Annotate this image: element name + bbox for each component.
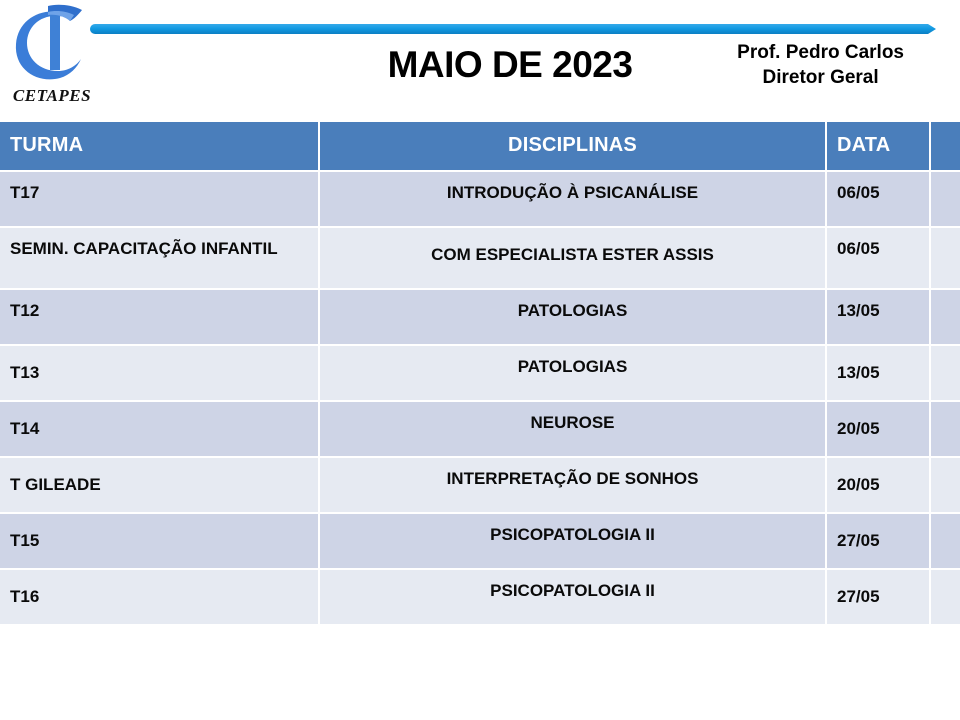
cell-disciplina-text: PSICOPATOLOGIA II [320,570,825,602]
cell-turma-text: T GILEADE [0,458,318,496]
cell-disciplina-text: PSICOPATOLOGIA II [320,514,825,546]
cell-extra [931,514,960,570]
cell-disciplina: COM ESPECIALISTA ESTER ASSIS [320,228,827,290]
cell-data-text: 27/05 [827,570,929,608]
cell-extra-text [931,172,960,182]
cell-extra-text [931,346,960,356]
cell-data-text: 13/05 [827,346,929,384]
cell-disciplina: INTERPRETAÇÃO DE SONHOS [320,458,827,514]
cell-data: 20/05 [827,458,931,514]
cell-data-text: 06/05 [827,172,929,204]
column-header-disciplinas-label: DISCIPLINAS [320,122,825,157]
cell-turma: T GILEADE [0,458,320,514]
cell-disciplina-text: PATOLOGIAS [320,290,825,322]
logo-wordmark: CETAPES [6,86,98,106]
table-header-row: TURMA DISCIPLINAS DATA [0,122,960,172]
cell-turma-text: T13 [0,346,318,384]
cell-extra-text [931,458,960,468]
cell-extra [931,228,960,290]
cell-turma: SEMIN. CAPACITAÇÃO INFANTIL [0,228,320,290]
cell-disciplina: PSICOPATOLOGIA II [320,570,827,626]
cetapes-c-logo-icon [4,2,92,88]
cell-turma-text: T17 [0,172,318,204]
cell-extra [931,570,960,626]
cell-turma: T13 [0,346,320,402]
table-row: T GILEADE INTERPRETAÇÃO DE SONHOS 20/05 [0,458,960,514]
table-row: T15 PSICOPATOLOGIA II 27/05 [0,514,960,570]
director-name: Prof. Pedro Carlos [737,40,904,65]
cell-extra [931,346,960,402]
cell-turma: T12 [0,290,320,346]
cell-extra-text [931,228,960,238]
table-row: T16 PSICOPATOLOGIA II 27/05 [0,570,960,626]
table-row: T13 PATOLOGIAS 13/05 [0,346,960,402]
cell-data-text: 06/05 [827,228,929,260]
cell-extra [931,402,960,458]
cell-extra-text [931,402,960,412]
cell-disciplina-text: INTERPRETAÇÃO DE SONHOS [320,458,825,490]
table-row: T14 NEUROSE 20/05 [0,402,960,458]
header-accent-bar [90,21,936,31]
table-row: T17 INTRODUÇÃO À PSICANÁLISE 06/05 [0,172,960,228]
cell-data: 13/05 [827,290,931,346]
cell-data: 27/05 [827,514,931,570]
column-header-data: DATA [827,122,931,172]
cell-extra [931,458,960,514]
column-header-extra-label [931,122,960,134]
cell-turma: T14 [0,402,320,458]
cell-disciplina: PATOLOGIAS [320,346,827,402]
cell-data: 27/05 [827,570,931,626]
cell-disciplina-text: PATOLOGIAS [320,346,825,378]
cell-turma-text: T12 [0,290,318,322]
cell-data-text: 13/05 [827,290,929,322]
cell-extra-text [931,514,960,524]
column-header-extra [931,122,960,172]
cell-turma: T17 [0,172,320,228]
cell-data: 20/05 [827,402,931,458]
cell-data: 13/05 [827,346,931,402]
cell-disciplina-text: NEUROSE [320,402,825,434]
cell-turma: T15 [0,514,320,570]
column-header-turma-label: TURMA [0,122,318,157]
cell-data: 06/05 [827,228,931,290]
director-block: Prof. Pedro Carlos Diretor Geral [737,40,904,90]
director-role: Diretor Geral [737,65,904,90]
cell-extra-text [931,570,960,580]
cell-data-text: 20/05 [827,402,929,440]
cell-turma-text: T14 [0,402,318,440]
cell-data-text: 20/05 [827,458,929,496]
cell-data-text: 27/05 [827,514,929,552]
cell-extra [931,290,960,346]
column-header-disciplinas: DISCIPLINAS [320,122,827,172]
cell-disciplina-text: INTRODUÇÃO À PSICANÁLISE [320,172,825,204]
table-row: SEMIN. CAPACITAÇÃO INFANTIL COM ESPECIAL… [0,228,960,290]
cell-disciplina: INTRODUÇÃO À PSICANÁLISE [320,172,827,228]
table-row: T12 PATOLOGIAS 13/05 [0,290,960,346]
slide-header: CETAPES MAIO DE 2023 Prof. Pedro Carlos … [0,0,960,122]
cetapes-logo: CETAPES [4,2,104,112]
schedule-table: TURMA DISCIPLINAS DATA T17 INTRODUÇÃO À … [0,122,960,626]
cell-turma-text: T16 [0,570,318,608]
cell-disciplina: NEUROSE [320,402,827,458]
cell-disciplina: PATOLOGIAS [320,290,827,346]
cell-turma: T16 [0,570,320,626]
column-header-data-label: DATA [827,122,929,157]
cell-turma-text: SEMIN. CAPACITAÇÃO INFANTIL [0,228,318,260]
page-title: MAIO DE 2023 [330,44,690,86]
cell-extra-text [931,290,960,300]
cell-disciplina: PSICOPATOLOGIA II [320,514,827,570]
cell-extra [931,172,960,228]
cell-disciplina-text: COM ESPECIALISTA ESTER ASSIS [320,228,825,266]
column-header-turma: TURMA [0,122,320,172]
cell-data: 06/05 [827,172,931,228]
cell-turma-text: T15 [0,514,318,552]
